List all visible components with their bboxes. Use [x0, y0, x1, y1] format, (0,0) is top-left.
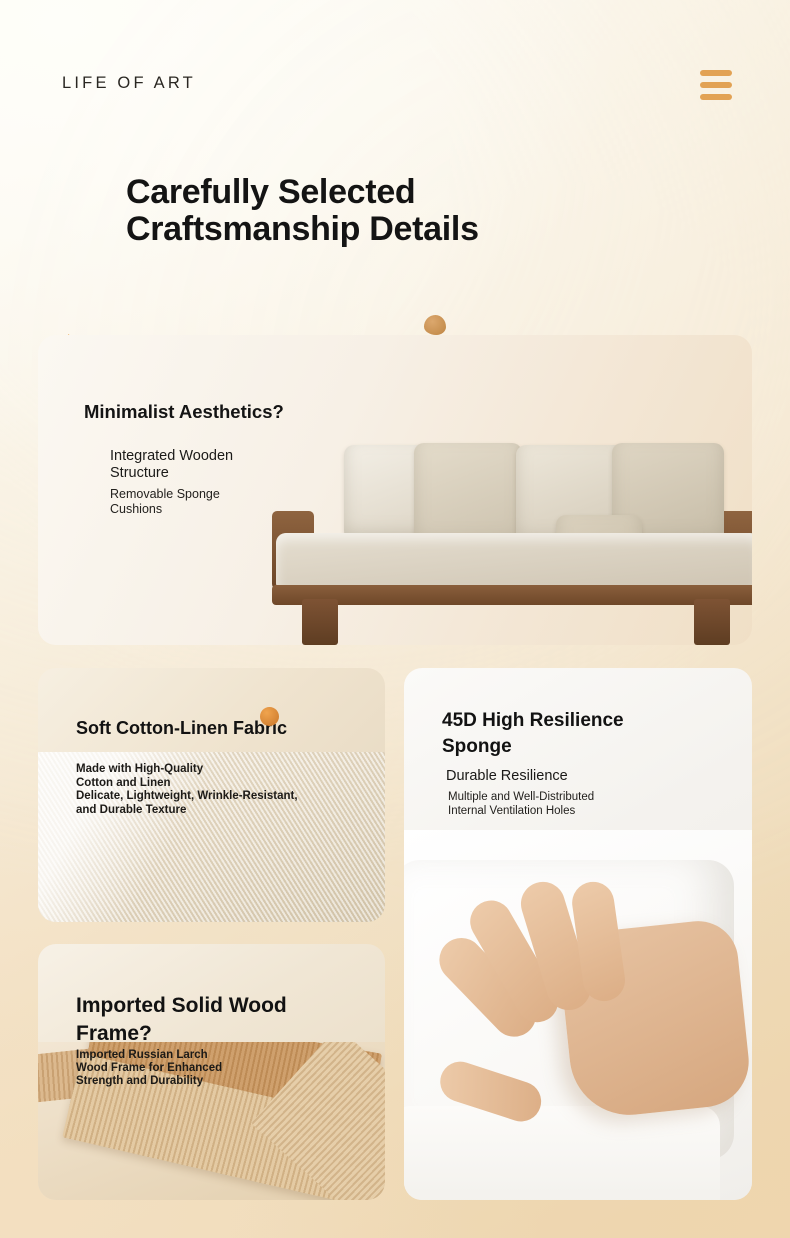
page-title-line-1: Carefully Selected [126, 173, 415, 211]
brand-logo[interactable]: LIFE OF ART [62, 74, 196, 93]
decorative-dot-icon [424, 315, 446, 335]
sponge-image [404, 830, 752, 1200]
sponge-cushion-base [404, 1106, 720, 1200]
menu-bar-2 [700, 82, 732, 88]
sofa-leg-left [302, 599, 338, 645]
sofa-image [266, 439, 752, 645]
feature-card-cotton-linen-fabric[interactable]: Soft Cotton-Linen Fabric Made with High-… [38, 668, 385, 922]
feature-card-minimalist-aesthetics[interactable]: Minimalist Aesthetics? Integrated Wooden… [38, 335, 752, 645]
feature-card-high-resilience-sponge[interactable]: 45D High Resilience Sponge Durable Resil… [404, 668, 752, 1200]
feature-card-solid-wood-frame[interactable]: Imported Solid Wood Frame? Imported Russ… [38, 944, 385, 1200]
menu-bar-1 [700, 70, 732, 76]
hamburger-menu-icon[interactable] [700, 70, 732, 100]
card-detail: Removable Sponge Cushions [110, 487, 220, 516]
hand-pressing-icon [557, 917, 752, 1121]
card-subheading: Durable Resilience [446, 768, 568, 784]
sofa-leg-right [694, 599, 730, 645]
decorative-dot-icon [260, 707, 279, 726]
sofa-seat-cushion [276, 533, 752, 589]
hero-section: Carefully Selected Craftsmanship Details [0, 150, 790, 335]
card-heading: Imported Solid Wood Frame? [76, 992, 316, 1048]
page-title-line-2: Craftsmanship Details [126, 211, 646, 248]
card-heading: Minimalist Aesthetics? [84, 401, 284, 423]
page-title: Carefully Selected Craftsmanship Details [126, 174, 646, 248]
page-header: LIFE OF ART [0, 0, 790, 150]
card-detail: Multiple and Well-Distributed Internal V… [448, 790, 698, 818]
card-subheading: Integrated Wooden Structure [110, 448, 233, 482]
sofa-wooden-base [272, 585, 752, 605]
card-detail: Imported Russian Larch Wood Frame for En… [76, 1049, 326, 1088]
card-detail: Made with High-Quality Cotton and Linen … [76, 763, 346, 817]
sofa-pillow [414, 443, 522, 547]
menu-bar-3 [700, 94, 732, 100]
card-heading: 45D High Resilience Sponge [442, 708, 692, 760]
